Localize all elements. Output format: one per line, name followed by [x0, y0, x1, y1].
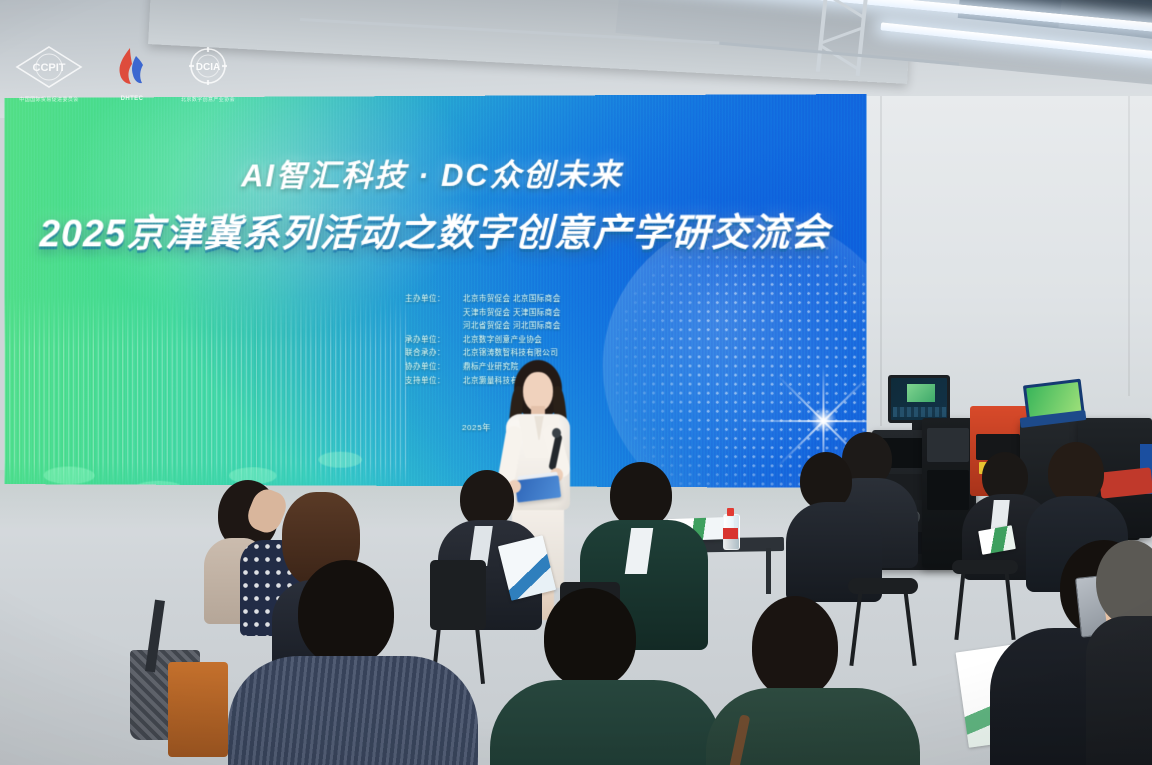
organizer-key: 协办单位：: [405, 360, 457, 374]
organizer-key: 主办单位：: [405, 292, 457, 306]
table-leg: [766, 548, 771, 594]
ceiling-truss: [816, 0, 945, 86]
organizer-row: 主办单位：北京市贸促会 北京国际商会: [405, 292, 636, 306]
event-date: 2025年: [462, 422, 491, 433]
organizer-value: 天津市贸促会 天津国际商会: [463, 306, 561, 320]
leather-tote-bag: [168, 662, 228, 757]
event-headline: AI智汇科技 · DC众创未来: [4, 149, 866, 196]
wall-seam: [1128, 96, 1130, 396]
organizer-row: 承办单位：北京数字创意产业协会: [405, 333, 636, 347]
organizer-key: [405, 306, 457, 320]
ccpit-logo: CCPIT 中国国际贸易促进委员会: [14, 44, 84, 103]
ccpit-logo-caption: 中国国际贸易促进委员会: [14, 96, 84, 103]
dot-graphic: [318, 452, 362, 468]
logo-row: CCPIT 中国国际贸易促进委员会 DHTEC DCIA 北京数字创意产业协会: [14, 44, 236, 103]
microphone-head: [552, 428, 561, 438]
water-bottle: [723, 506, 738, 548]
organizer-row: 天津市贸促会 天津国际商会: [405, 306, 636, 320]
conference-photo: AI智汇科技 · DC众创未来 2025京津冀系列活动之数字创意产学研交流会 主…: [0, 0, 1152, 765]
dcia-logo: DCIA 北京数字创意产业协会: [180, 44, 236, 103]
dot-graphic: [44, 466, 95, 484]
event-title: 2025京津冀系列活动之数字创意产学研交流会: [4, 201, 866, 257]
wall-seam: [880, 96, 882, 426]
organizer-value: 北京数字创意产业协会: [463, 333, 542, 347]
red-fabric-item: [1099, 467, 1152, 498]
dhtec-logo: DHTEC: [110, 44, 154, 102]
organizer-value: 河北省贸促会 河北国际商会: [463, 319, 561, 333]
dcia-logo-caption: 北京数字创意产业协会: [180, 96, 236, 103]
svg-text:DCIA: DCIA: [196, 62, 220, 73]
svg-text:CCPIT: CCPIT: [33, 62, 66, 74]
video-switcher-monitor: [888, 375, 950, 423]
organizer-value: 北京锦涛数智科技有限公司: [463, 346, 558, 360]
organizer-key: 承办单位：: [405, 333, 457, 347]
organizer-key: 联合承办：: [405, 346, 457, 360]
led-video-wall: AI智汇科技 · DC众创未来 2025京津冀系列活动之数字创意产学研交流会 主…: [4, 94, 866, 488]
organizer-key: 支持单位：: [405, 374, 457, 388]
organizer-row: 河北省贸促会 河北国际商会: [405, 319, 636, 333]
organizer-row: 联合承办：北京锦涛数智科技有限公司: [405, 346, 636, 360]
dhtec-logo-caption: DHTEC: [110, 96, 154, 102]
organizer-value: 北京市贸促会 北京国际商会: [463, 292, 561, 306]
organizer-key: [405, 319, 457, 333]
